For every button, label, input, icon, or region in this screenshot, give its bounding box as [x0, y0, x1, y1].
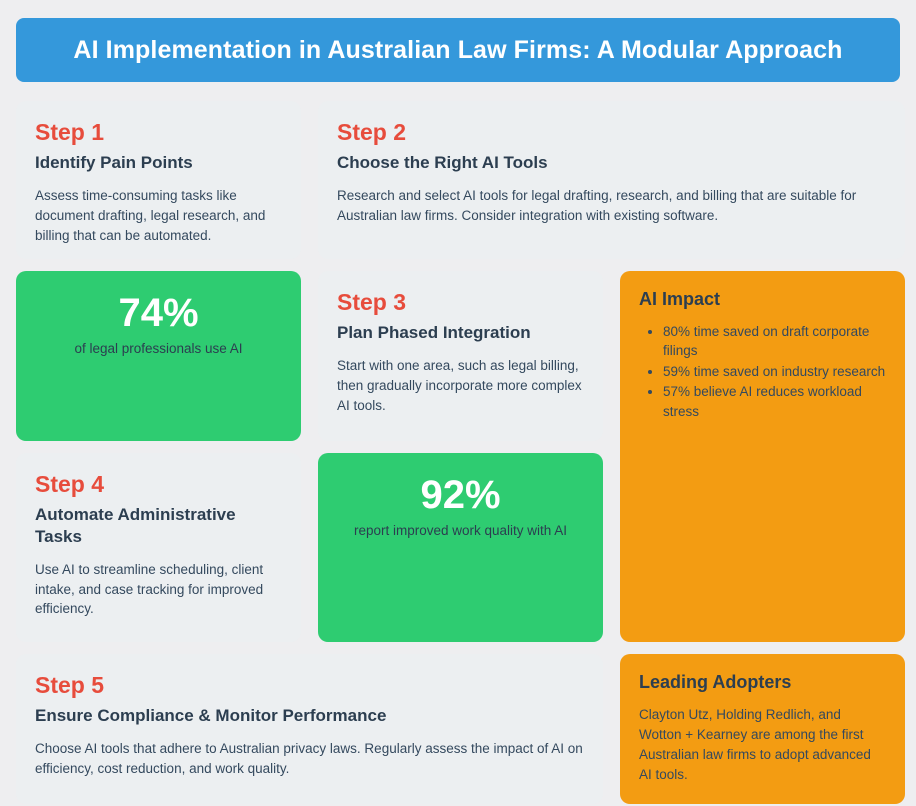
infographic-page: AI Implementation in Australian Law Firm… [0, 0, 916, 806]
step-card-2: Step 2 Choose the Right AI Tools Researc… [318, 101, 905, 259]
step-card-3: Step 3 Plan Phased Integration Start wit… [318, 271, 603, 441]
card-grid: Step 1 Identify Pain Points Assess time-… [16, 101, 900, 804]
ai-impact-title: AI Impact [639, 289, 886, 311]
stat-value-74: 74% [35, 291, 282, 335]
step-card-1: Step 1 Identify Pain Points Assess time-… [16, 101, 301, 259]
ai-impact-list: 80% time saved on draft corporate filing… [641, 322, 886, 422]
page-title: AI Implementation in Australian Law Firm… [73, 36, 842, 65]
header-banner: AI Implementation in Australian Law Firm… [16, 18, 900, 82]
step-title-2: Choose the Right AI Tools [337, 152, 886, 174]
leading-adopters-card: Leading Adopters Clayton Utz, Holding Re… [620, 654, 905, 804]
step-title-4: Automate Administrative Tasks [35, 504, 282, 548]
ai-impact-card: AI Impact 80% time saved on draft corpor… [620, 271, 905, 642]
stat-label-74: of legal professionals use AI [35, 340, 282, 359]
stat-card-74: 74% of legal professionals use AI [16, 271, 301, 441]
stat-card-92: 92% report improved work quality with AI [318, 453, 603, 642]
step-card-4: Step 4 Automate Administrative Tasks Use… [16, 453, 301, 642]
step-title-3: Plan Phased Integration [337, 322, 584, 344]
leading-adopters-title: Leading Adopters [639, 672, 886, 694]
step-label-2: Step 2 [337, 119, 886, 145]
stat-value-92: 92% [337, 473, 584, 517]
list-item: 80% time saved on draft corporate filing… [663, 322, 886, 361]
step-title-5: Ensure Compliance & Monitor Performance [35, 705, 584, 727]
step-description-1: Assess time-consuming tasks like documen… [35, 186, 282, 245]
step-description-2: Research and select AI tools for legal d… [337, 186, 886, 225]
step-label-4: Step 4 [35, 471, 282, 497]
list-item: 59% time saved on industry research [663, 362, 886, 382]
leading-adopters-description: Clayton Utz, Holding Redlich, and Wotton… [639, 705, 886, 786]
step-label-3: Step 3 [337, 289, 584, 315]
step-label-1: Step 1 [35, 119, 282, 145]
step-title-1: Identify Pain Points [35, 152, 282, 174]
step-description-3: Start with one area, such as legal billi… [337, 356, 584, 415]
step-label-5: Step 5 [35, 672, 584, 698]
stat-label-92: report improved work quality with AI [337, 522, 584, 541]
step-description-5: Choose AI tools that adhere to Australia… [35, 739, 584, 778]
step-description-4: Use AI to streamline scheduling, client … [35, 560, 282, 619]
step-card-5: Step 5 Ensure Compliance & Monitor Perfo… [16, 654, 603, 804]
list-item: 57% believe AI reduces workload stress [663, 382, 886, 421]
